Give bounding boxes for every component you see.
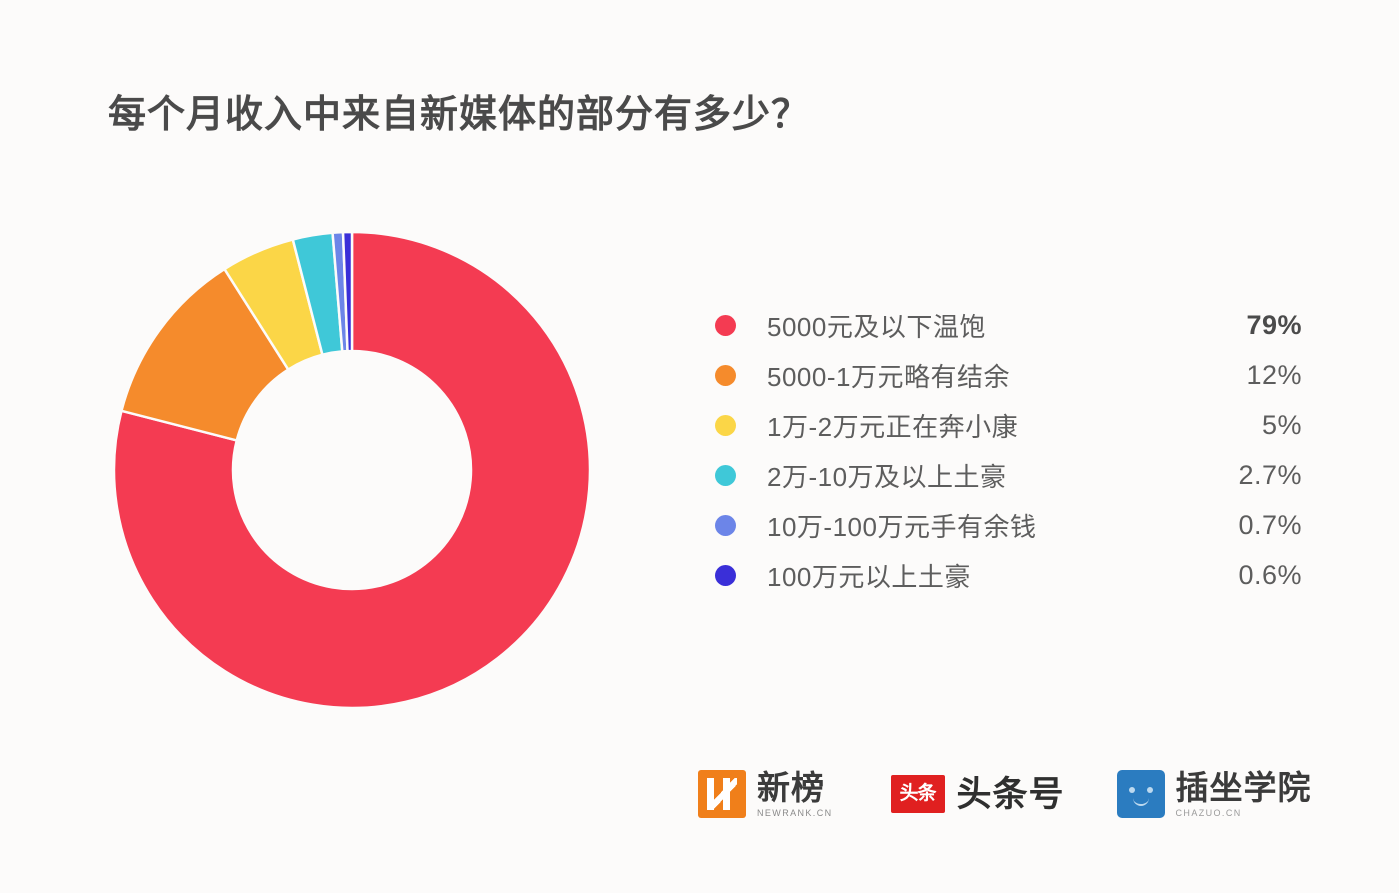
logo-toutiao: 头条 头条号 bbox=[891, 775, 1065, 813]
chazuo-mark-icon bbox=[1117, 770, 1165, 818]
legend-label: 5000-1万元略有结余 bbox=[767, 357, 1010, 394]
newrank-subtitle: NEWRANK.CN bbox=[757, 808, 833, 818]
legend-label: 10万-100万元手有余钱 bbox=[767, 507, 1036, 544]
chazuo-name: 插坐学院 bbox=[1176, 771, 1312, 804]
legend-value: 79% bbox=[1246, 310, 1302, 341]
legend-color-dot-icon bbox=[715, 365, 736, 386]
legend-color-dot-icon bbox=[715, 465, 736, 486]
chazuo-subtitle: CHAZUO.CN bbox=[1176, 808, 1312, 818]
donut-slice-group bbox=[114, 232, 590, 708]
donut-chart bbox=[114, 232, 590, 708]
legend-color-dot-icon bbox=[715, 415, 736, 436]
legend-row[interactable]: 1万-2万元正在奔小康5% bbox=[712, 400, 1312, 450]
legend-value: 5% bbox=[1262, 410, 1302, 441]
legend-row[interactable]: 5000-1万元略有结余12% bbox=[712, 350, 1312, 400]
legend-row[interactable]: 5000元及以下温饱79% bbox=[712, 300, 1312, 350]
chazuo-mouth-icon bbox=[1133, 797, 1149, 806]
chart-legend: 5000元及以下温饱79%5000-1万元略有结余12%1万-2万元正在奔小康5… bbox=[712, 300, 1312, 600]
legend-value: 0.7% bbox=[1238, 510, 1302, 541]
page-title: 每个月收入中来自新媒体的部分有多少？ bbox=[108, 83, 810, 138]
legend-label: 2万-10万及以上土豪 bbox=[767, 457, 1007, 494]
newrank-mark-icon bbox=[698, 770, 746, 818]
chazuo-eye-left-icon bbox=[1129, 787, 1135, 793]
newrank-name: 新榜 bbox=[757, 771, 833, 804]
donut-chart-svg bbox=[114, 232, 590, 708]
chazuo-eye-right-icon bbox=[1147, 787, 1153, 793]
legend-row[interactable]: 10万-100万元手有余钱0.7% bbox=[712, 500, 1312, 550]
legend-label: 100万元以上土豪 bbox=[767, 557, 971, 594]
legend-color-dot-icon bbox=[715, 315, 736, 336]
toutiao-name: 头条号 bbox=[957, 777, 1065, 812]
toutiao-mark-icon: 头条 bbox=[891, 775, 945, 813]
logo-newrank: 新榜 NEWRANK.CN bbox=[698, 770, 833, 818]
legend-row[interactable]: 100万元以上土豪0.6% bbox=[712, 550, 1312, 600]
logo-chazuo: 插坐学院 CHAZUO.CN bbox=[1117, 770, 1312, 818]
legend-row[interactable]: 2万-10万及以上土豪2.7% bbox=[712, 450, 1312, 500]
legend-value: 12% bbox=[1246, 360, 1302, 391]
legend-value: 2.7% bbox=[1238, 460, 1302, 491]
legend-value: 0.6% bbox=[1238, 560, 1302, 591]
footer-logos: 新榜 NEWRANK.CN 头条 头条号 插坐学院 CHAZUO.CN bbox=[698, 770, 1312, 818]
legend-label: 1万-2万元正在奔小康 bbox=[767, 407, 1018, 444]
chazuo-text: 插坐学院 CHAZUO.CN bbox=[1176, 771, 1312, 818]
legend-color-dot-icon bbox=[715, 565, 736, 586]
legend-color-dot-icon bbox=[715, 515, 736, 536]
newrank-text: 新榜 NEWRANK.CN bbox=[757, 771, 833, 818]
legend-label: 5000元及以下温饱 bbox=[767, 307, 986, 344]
